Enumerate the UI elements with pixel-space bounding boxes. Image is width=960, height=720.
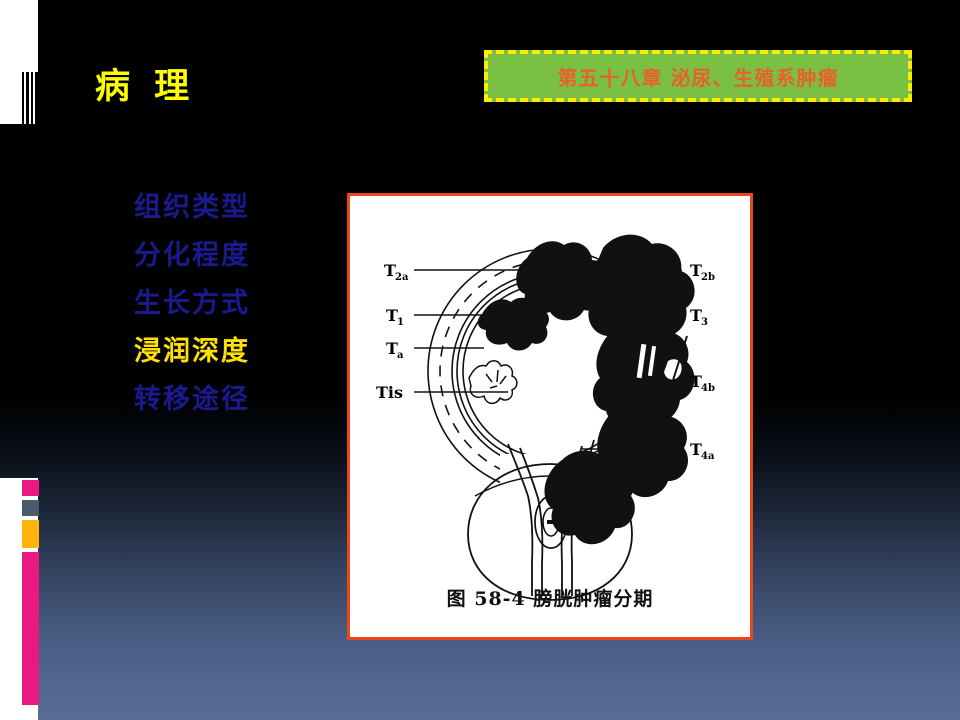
- svg-text:4b: 4b: [701, 383, 715, 394]
- rail-stripe-4: [35, 72, 38, 124]
- page-title: 病 理: [95, 58, 195, 109]
- svg-text:1: 1: [397, 317, 404, 328]
- decor-rail-top-panel: [0, 0, 38, 124]
- feature-list: 组织类型 分化程度 生长方式 浸润深度 转移途径: [134, 184, 354, 424]
- svg-text:Tis: Tis: [376, 383, 403, 402]
- svg-text:a: a: [397, 350, 404, 361]
- decor-block-magenta-square: [22, 480, 39, 496]
- list-item-metastasis-route[interactable]: 转移途径: [134, 376, 354, 424]
- chapter-banner-label: 第五十八章 泌尿、生殖系肿瘤: [558, 62, 839, 91]
- figure-caption: 图 58-4 膀胱肿瘤分期: [350, 584, 750, 611]
- svg-text:4a: 4a: [701, 451, 715, 462]
- svg-text:3: 3: [701, 317, 708, 328]
- bladder-staging-diagram: T 2a T 1 T a Tis T 2b T 3: [350, 196, 750, 637]
- list-item-differentiation[interactable]: 分化程度: [134, 232, 354, 280]
- figure-label-tis: Tis: [376, 383, 403, 402]
- svg-text:2a: 2a: [395, 272, 409, 283]
- chapter-banner: 第五十八章 泌尿、生殖系肿瘤: [484, 50, 912, 102]
- rail-stripe-1: [22, 72, 24, 124]
- list-item-invasion-depth[interactable]: 浸润深度: [134, 328, 354, 376]
- figure-bladder-staging[interactable]: T 2a T 1 T a Tis T 2b T 3: [347, 193, 753, 640]
- rail-stripe-2: [26, 72, 29, 124]
- decor-block-slate-square: [22, 500, 39, 516]
- presentation-slide: 病 理 第五十八章 泌尿、生殖系肿瘤 组织类型 分化程度 生长方式 浸润深度 转…: [0, 0, 960, 720]
- list-item-tissue-type[interactable]: 组织类型: [134, 184, 354, 232]
- rail-stripe-3: [31, 72, 33, 124]
- svg-text:2b: 2b: [701, 272, 715, 283]
- list-item-growth-pattern[interactable]: 生长方式: [134, 280, 354, 328]
- decor-block-magenta-bar: [22, 552, 39, 705]
- decor-block-amber-square: [22, 520, 39, 548]
